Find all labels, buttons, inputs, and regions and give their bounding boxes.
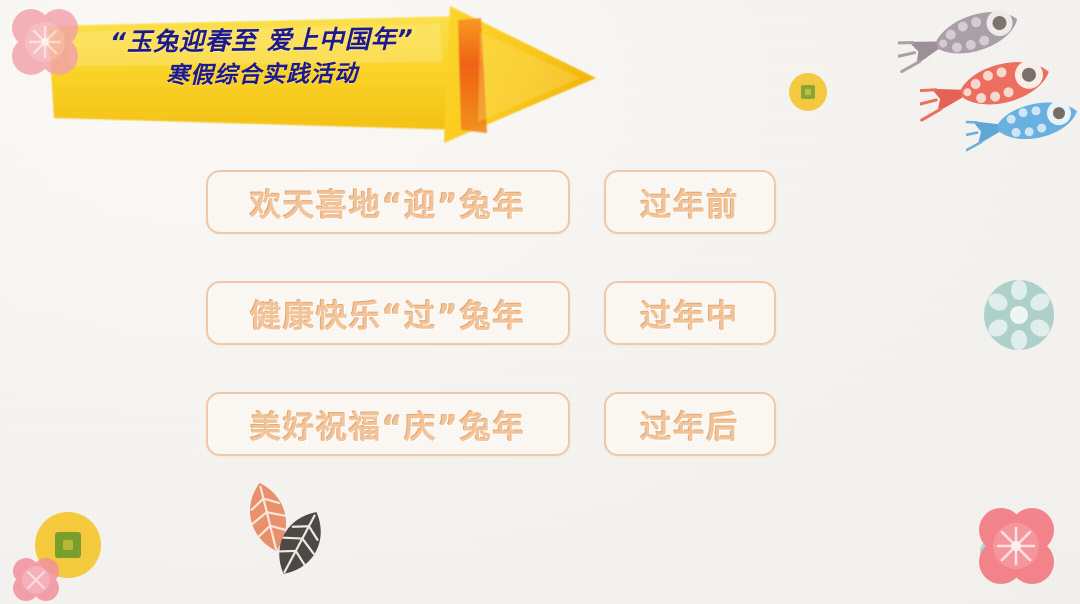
- koi-streamer-red-icon: [920, 50, 1068, 150]
- leaf-orange-icon: [236, 478, 300, 556]
- plum-blossom-bottom-right-icon: [968, 500, 1064, 596]
- phase-box-1[interactable]: 过年前: [604, 170, 776, 234]
- theme-box-3[interactable]: 美好祝福“庆”兔年: [206, 392, 570, 456]
- koi-streamer-blue-icon: [966, 92, 1080, 170]
- gold-coin-top-icon: [786, 70, 830, 114]
- theme-label-1: 欢天喜地“迎”兔年: [250, 180, 526, 225]
- gold-coin-bottom-icon: [30, 507, 106, 583]
- phase-box-2[interactable]: 过年中: [604, 281, 776, 345]
- theme-box-1[interactable]: 欢天喜地“迎”兔年: [206, 170, 570, 234]
- phase-label-2: 过年中: [641, 291, 740, 336]
- title-banner: “玉兔迎春至 爱上中国年” 寒假综合实践活动: [40, 2, 610, 147]
- phase-label-1: 过年前: [641, 180, 740, 225]
- koi-streamer-gray-icon: [898, 2, 1038, 97]
- phase-label-3: 过年后: [641, 402, 740, 447]
- phase-box-3[interactable]: 过年后: [604, 392, 776, 456]
- theme-label-2: 健康快乐“过”兔年: [250, 291, 526, 336]
- slide-canvas: “玉兔迎春至 爱上中国年” 寒假综合实践活动 欢天喜地“迎”兔年 过年前 健康快…: [0, 0, 1080, 604]
- teal-flower-icon: [976, 272, 1062, 358]
- banner-title-line1: “玉兔迎春至 爱上中国年”: [62, 22, 462, 59]
- theme-box-2[interactable]: 健康快乐“过”兔年: [206, 281, 570, 345]
- leaf-dark-icon: [266, 505, 334, 581]
- theme-label-3: 美好祝福“庆”兔年: [250, 402, 526, 447]
- plum-blossom-bottom-left-icon: [8, 553, 64, 604]
- banner-title-line2: 寒假综合实践活动: [62, 58, 462, 93]
- banner-text-group: “玉兔迎春至 爱上中国年” 寒假综合实践活动: [62, 22, 463, 93]
